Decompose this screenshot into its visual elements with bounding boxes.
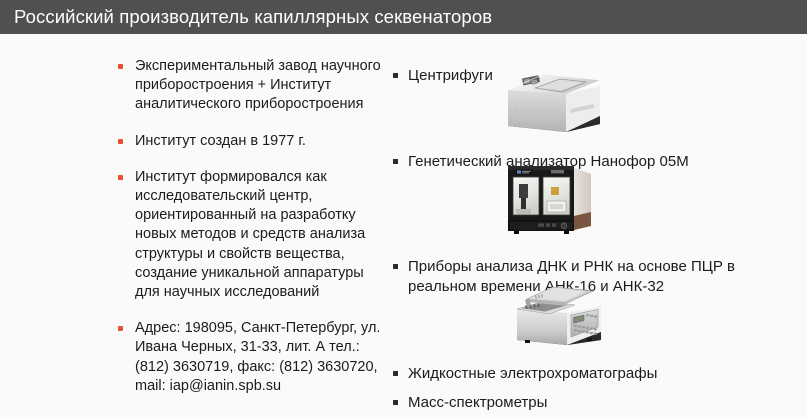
dot-bullet-icon xyxy=(118,326,123,331)
list-item: Масс-спектрометры xyxy=(393,393,793,413)
square-bullet-icon xyxy=(393,400,398,405)
centrifuge-photo xyxy=(500,70,604,136)
list-item: Институт формировался как исследовательс… xyxy=(118,168,386,302)
list-item: Институт создан в 1977 г. xyxy=(118,132,386,151)
right-bullet-text-1: Центрифуги xyxy=(408,66,493,86)
right-bullet-text-5: Масс-спектрометры xyxy=(408,393,547,413)
slide-title: Российский производитель капиллярных сек… xyxy=(0,7,492,27)
dot-bullet-icon xyxy=(118,64,123,69)
genetic-analyzer-photo xyxy=(498,160,598,240)
square-bullet-icon xyxy=(393,159,398,164)
list-item: Жидкостные электрохроматографы xyxy=(393,364,793,384)
left-bullet-list: Экспериментальный завод научного приборо… xyxy=(118,57,386,396)
left-bullet-text-2: Институт создан в 1977 г. xyxy=(135,132,306,151)
dot-bullet-icon xyxy=(118,175,123,180)
left-bullet-text-4-address: Адрес: 198095, Санкт-Петербург, ул. Иван… xyxy=(135,319,386,396)
square-bullet-icon xyxy=(393,371,398,376)
left-bullet-text-1: Экспериментальный завод научного приборо… xyxy=(135,57,386,115)
presentation-slide: Российский производитель капиллярных сек… xyxy=(0,0,807,419)
slide-title-bar: Российский производитель капиллярных сек… xyxy=(0,0,807,34)
left-bullet-text-3: Институт формировался как исследовательс… xyxy=(135,168,386,302)
right-bullet-text-4: Жидкостные электрохроматографы xyxy=(408,364,657,384)
list-item: Адрес: 198095, Санкт-Петербург, ул. Иван… xyxy=(118,319,386,396)
square-bullet-icon xyxy=(393,264,398,269)
square-bullet-icon xyxy=(393,73,398,78)
thermocycler-photo xyxy=(505,285,605,347)
dot-bullet-icon xyxy=(118,139,123,144)
list-item: Экспериментальный завод научного приборо… xyxy=(118,57,386,115)
